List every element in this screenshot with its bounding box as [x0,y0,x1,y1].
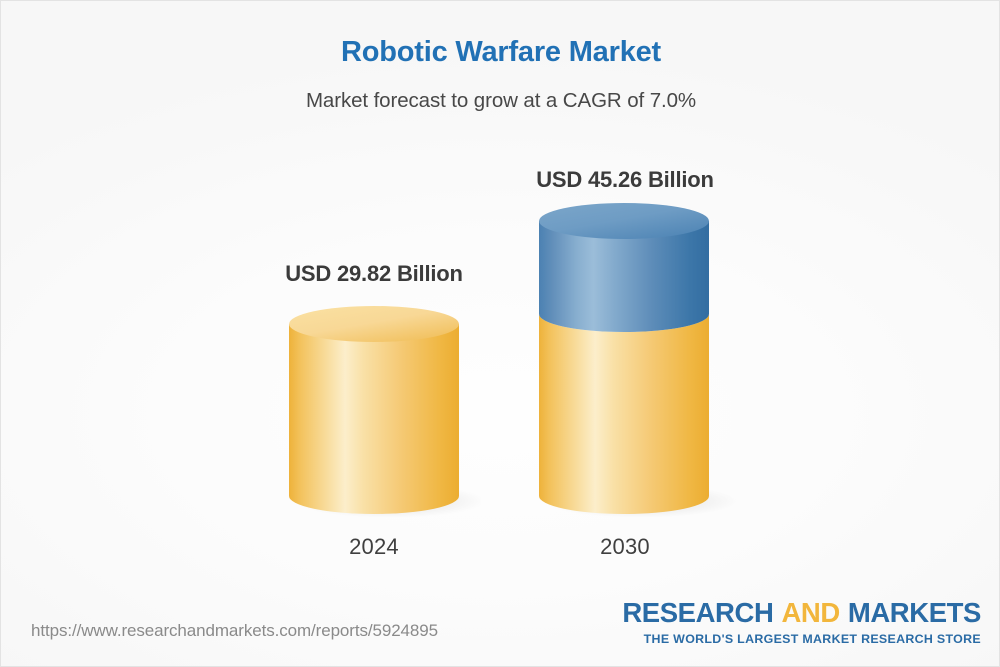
chart-plot-area: USD 29.82 Billion USD 45.26 Billion [1,1,1000,667]
cylinder-2024-svg [281,297,481,527]
brand-tagline: THE WORLD'S LARGEST MARKET RESEARCH STOR… [622,633,981,645]
report-url[interactable]: https://www.researchandmarkets.com/repor… [31,621,438,641]
category-label-2030: 2030 [505,534,745,560]
brand-wordmark: RESEARCHANDMARKETS [622,599,981,627]
bar-cylinder-2024 [281,297,481,527]
bar-cylinder-2030 [531,194,736,527]
brand-word-research: RESEARCH [622,597,773,628]
brand-word-markets: MARKETS [848,597,981,628]
cylinder-2030-svg [531,194,736,527]
brand-logo[interactable]: RESEARCHANDMARKETS THE WORLD'S LARGEST M… [622,599,981,645]
value-label-2030: USD 45.26 Billion [455,167,795,193]
infographic-canvas: Robotic Warfare Market Market forecast t… [0,0,1000,667]
brand-word-and: AND [781,597,839,628]
category-label-2024: 2024 [254,534,494,560]
value-label-2024: USD 29.82 Billion [204,261,544,287]
